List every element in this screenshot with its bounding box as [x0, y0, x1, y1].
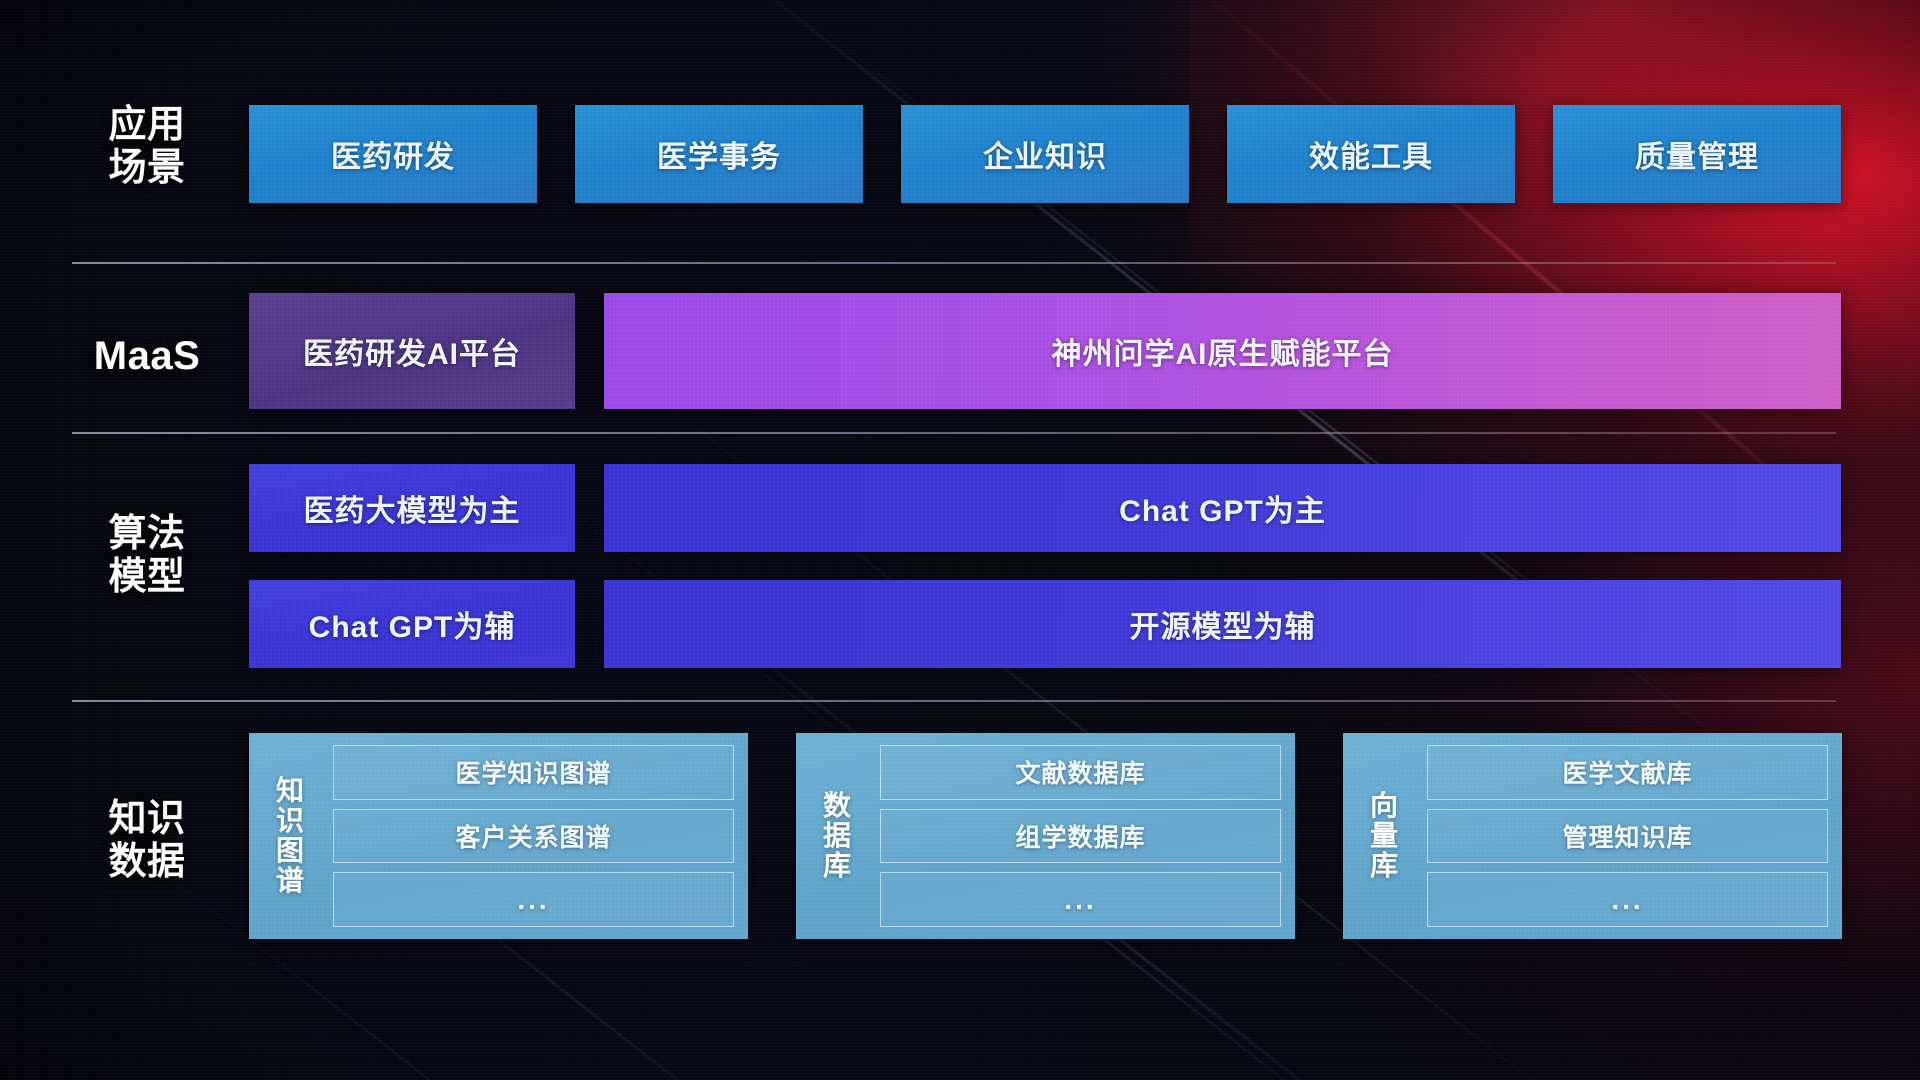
knowledge-item-literature-database[interactable]: 文献数据库	[880, 745, 1281, 800]
title-char: 数	[823, 791, 851, 821]
knowledge-panel-title-vector-store: 向 量 库	[1355, 745, 1413, 927]
knowledge-item-medical-literature-store[interactable]: 医学文献库	[1427, 745, 1828, 800]
row-label-line: 数据	[72, 841, 222, 884]
app-card-efficiency-tools[interactable]: 效能工具	[1227, 105, 1515, 203]
maas-card-medicine-rd-ai-platform[interactable]: 医药研发AI平台	[249, 293, 575, 409]
row-label-maas: MaaS	[72, 334, 222, 379]
row-label-algorithm-models: 算法 模型	[72, 513, 222, 599]
row-label-line: 算法	[72, 513, 222, 556]
algo-card-chatgpt-secondary[interactable]: Chat GPT为辅	[249, 580, 575, 668]
knowledge-panel-title-database: 数 据 库	[808, 745, 866, 927]
knowledge-items-vector-store: 医学文献库 管理知识库 ...	[1427, 745, 1828, 927]
title-char: 知	[276, 776, 304, 806]
knowledge-item-omics-database[interactable]: 组学数据库	[880, 809, 1281, 864]
maas-card-shenzhou-wenxue-platform[interactable]: 神州问学AI原生赋能平台	[604, 293, 1841, 409]
title-char: 库	[823, 851, 851, 881]
knowledge-items-knowledge-graph: 医学知识图谱 客户关系图谱 ...	[333, 745, 734, 927]
knowledge-items-database: 文献数据库 组学数据库 ...	[880, 745, 1281, 927]
algo-card-medicine-large-model-primary[interactable]: 医药大模型为主	[249, 464, 575, 552]
title-char: 图	[276, 836, 304, 866]
knowledge-item-more[interactable]: ...	[880, 872, 1281, 927]
knowledge-panel-database[interactable]: 数 据 库 文献数据库 组学数据库 ...	[796, 733, 1295, 939]
app-card-medicine-rd[interactable]: 医药研发	[249, 105, 537, 203]
divider-1	[72, 262, 1836, 264]
row-label-knowledge-data: 知识 数据	[72, 798, 222, 884]
row-label-application-scenarios: 应用 场景	[72, 104, 222, 190]
knowledge-item-medical-knowledge-graph[interactable]: 医学知识图谱	[333, 745, 734, 800]
algo-card-chatgpt-primary[interactable]: Chat GPT为主	[604, 464, 1841, 552]
row-label-line: 场景	[72, 147, 222, 190]
divider-3	[72, 700, 1836, 702]
knowledge-item-management-knowledge-store[interactable]: 管理知识库	[1427, 809, 1828, 864]
algo-card-opensource-model-secondary[interactable]: 开源模型为辅	[604, 580, 1841, 668]
knowledge-panel-knowledge-graph[interactable]: 知 识 图 谱 医学知识图谱 客户关系图谱 ...	[249, 733, 748, 939]
row-label-line: 模型	[72, 556, 222, 599]
title-char: 库	[1370, 851, 1398, 881]
divider-2	[72, 432, 1836, 434]
row-label-line: 应用	[72, 104, 222, 147]
title-char: 据	[823, 821, 851, 851]
row-label-line: 知识	[72, 798, 222, 841]
title-char: 量	[1370, 821, 1398, 851]
app-card-enterprise-knowledge[interactable]: 企业知识	[901, 105, 1189, 203]
knowledge-item-more[interactable]: ...	[1427, 872, 1828, 927]
knowledge-item-customer-relation-graph[interactable]: 客户关系图谱	[333, 809, 734, 864]
knowledge-panel-title-knowledge-graph: 知 识 图 谱	[261, 745, 319, 927]
title-char: 向	[1370, 791, 1398, 821]
title-char: 识	[276, 806, 304, 836]
knowledge-item-more[interactable]: ...	[333, 872, 734, 927]
knowledge-panel-vector-store[interactable]: 向 量 库 医学文献库 管理知识库 ...	[1343, 733, 1842, 939]
app-card-medical-affairs[interactable]: 医学事务	[575, 105, 863, 203]
title-char: 谱	[276, 866, 304, 896]
app-card-quality-management[interactable]: 质量管理	[1553, 105, 1841, 203]
